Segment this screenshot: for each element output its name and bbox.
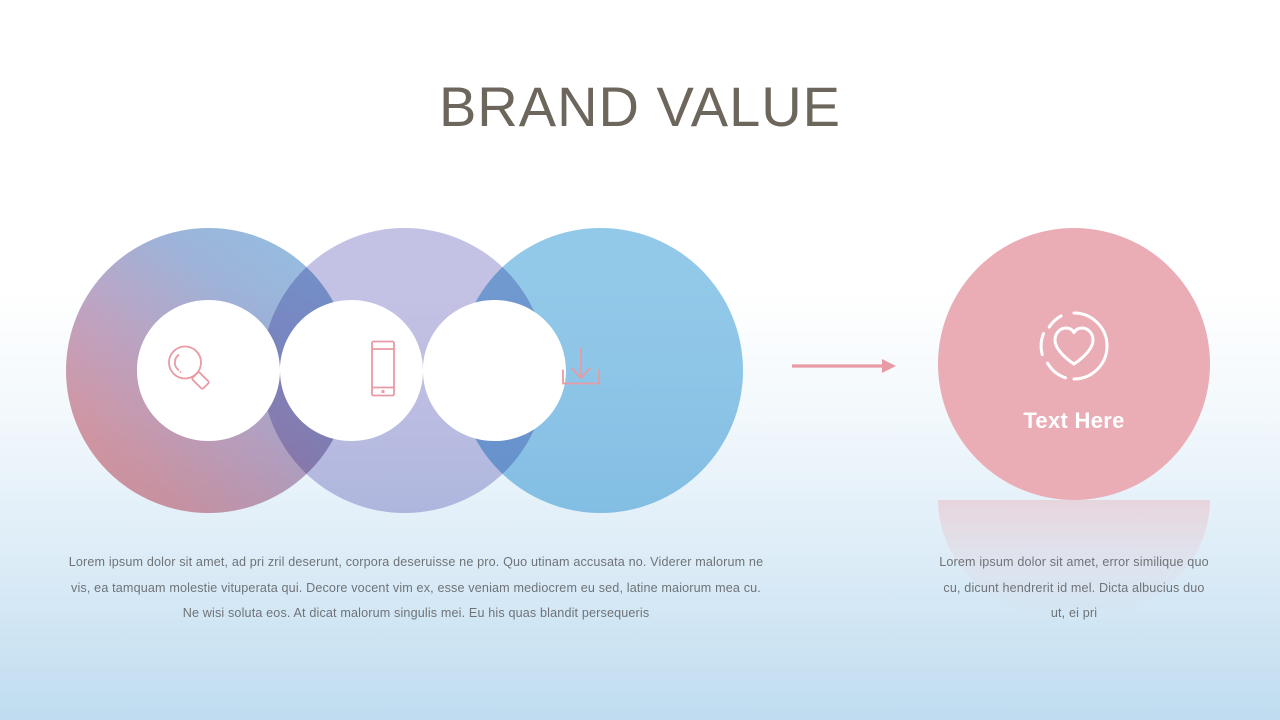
download-icon[interactable]	[551, 338, 611, 403]
description-left: Lorem ipsum dolor sit amet, ad pri zril …	[66, 550, 766, 627]
process-chain	[66, 228, 766, 513]
result-label: Text Here	[1023, 408, 1124, 434]
mobile-icon[interactable]	[359, 337, 407, 404]
page-title: BRAND VALUE	[0, 76, 1280, 138]
arrow-right-icon	[792, 355, 896, 377]
search-icon[interactable]	[161, 338, 221, 403]
heart-in-circle-icon	[1035, 307, 1113, 390]
description-right: Lorem ipsum dolor sit amet, error simili…	[938, 550, 1210, 627]
result-circle[interactable]: Text Here	[938, 228, 1210, 500]
